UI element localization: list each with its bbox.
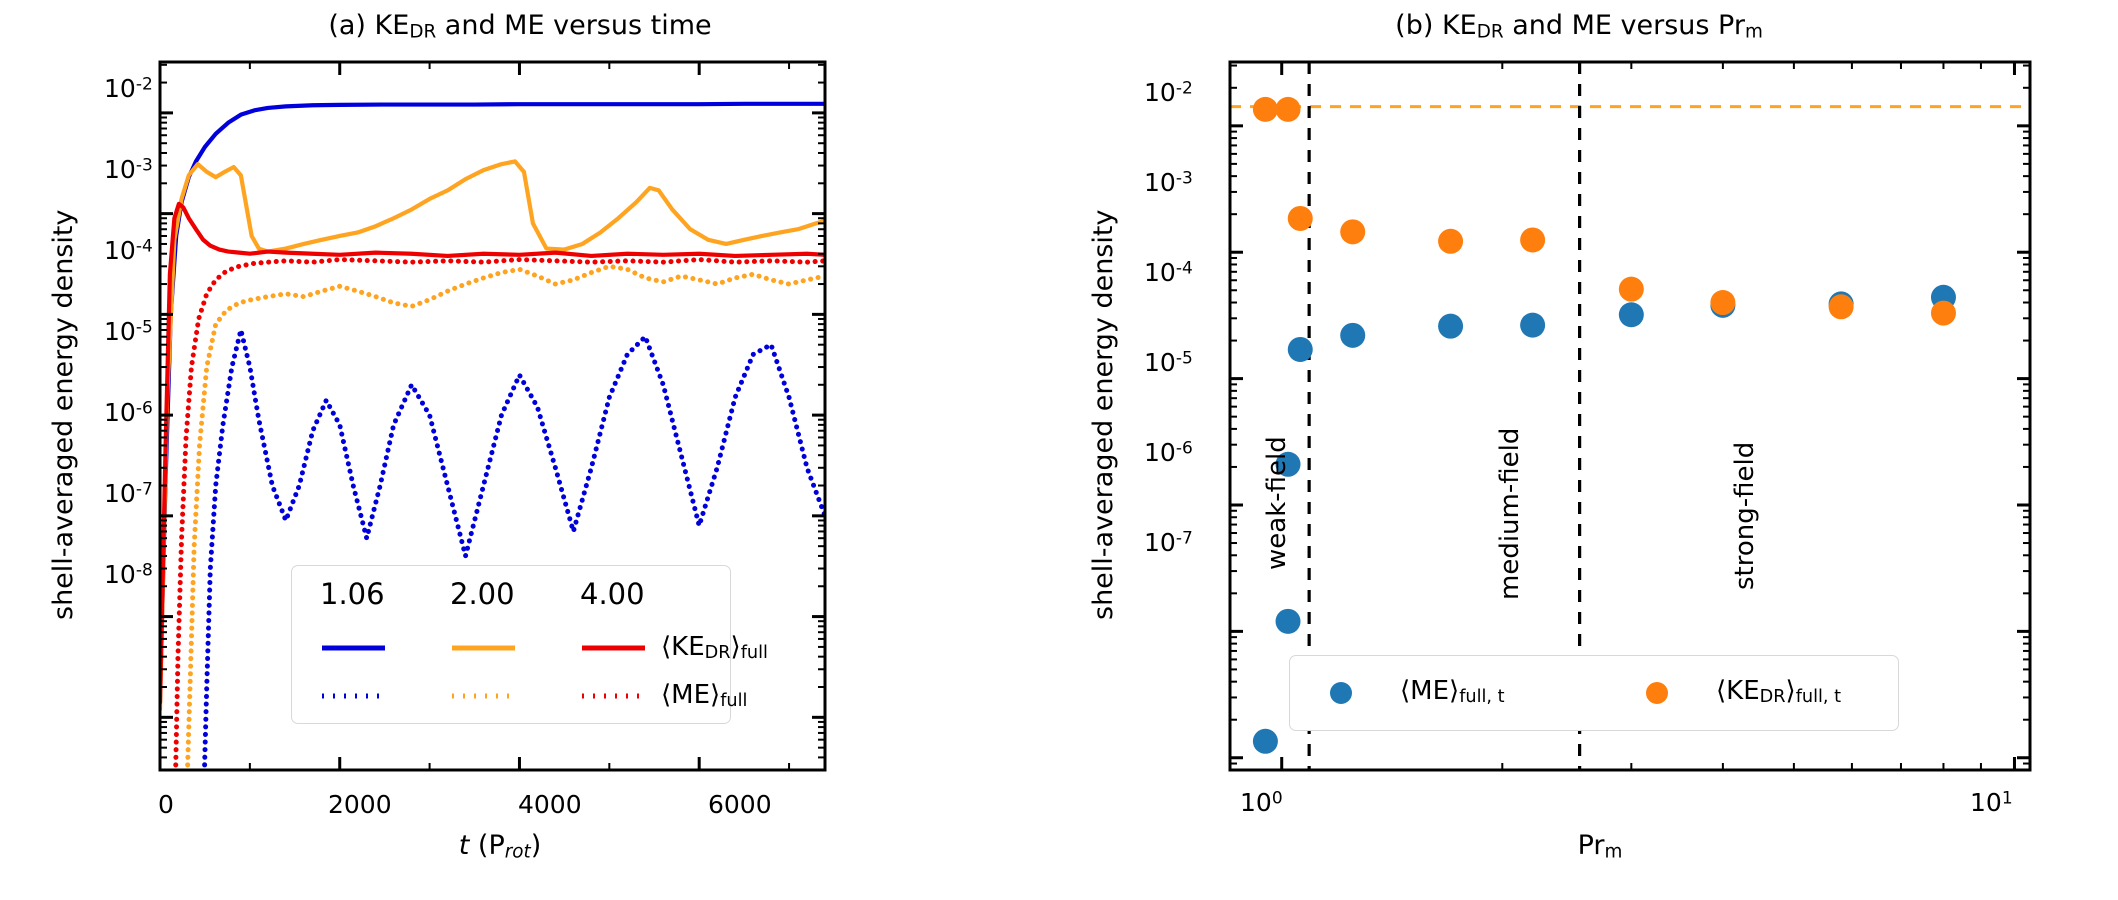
point-0-1 <box>1276 609 1301 634</box>
panel-b-legend-label-0: ⟨ME⟩full, t <box>1400 676 1505 707</box>
point-0-0 <box>1253 729 1278 754</box>
point-1-2 <box>1288 206 1313 231</box>
panel-b: (b) KEDR and ME versus Prm shell-average… <box>1040 0 2118 900</box>
point-1-8 <box>1829 294 1854 319</box>
point-0-6 <box>1520 313 1545 338</box>
panel-a-plot <box>0 0 1040 900</box>
panel-a-legend-header-0: 1.06 <box>320 577 385 611</box>
panel-b-legend-label-1: ⟨KEDR⟩full, t <box>1716 676 1841 707</box>
point-1-6 <box>1619 277 1644 302</box>
panel-b-plot <box>1040 0 2118 900</box>
region-label-strong-field: strong-field <box>1730 442 1760 590</box>
panel-a-legend-header-1: 2.00 <box>450 577 515 611</box>
point-0-5 <box>1438 314 1463 339</box>
point-0-3 <box>1288 337 1313 362</box>
figure-root: (a) KEDR and ME versus time shell-averag… <box>0 0 2118 900</box>
point-1-3 <box>1340 219 1365 244</box>
point-1-5 <box>1520 227 1545 252</box>
region-label-weak-field: weak-field <box>1262 436 1292 570</box>
point-1-0 <box>1253 97 1278 122</box>
panel-a-legend-label-1: ⟨ME⟩full <box>661 680 747 711</box>
point-0-7 <box>1619 302 1644 327</box>
point-1-4 <box>1438 229 1463 254</box>
point-0-4 <box>1340 323 1365 348</box>
panel-a-legend-label-0: ⟨KEDR⟩full <box>661 632 768 663</box>
point-1-9 <box>1931 301 1956 326</box>
panel-a: (a) KEDR and ME versus time shell-averag… <box>0 0 1040 900</box>
point-1-7 <box>1710 290 1735 315</box>
panel-a-legend-header-2: 4.00 <box>580 577 645 611</box>
point-1-1 <box>1276 97 1301 122</box>
region-label-medium-field: medium-field <box>1495 428 1525 600</box>
